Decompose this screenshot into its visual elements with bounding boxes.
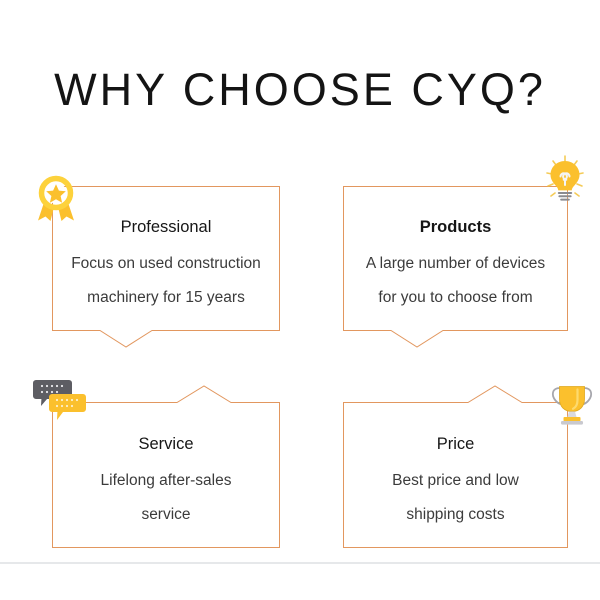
why-choose-section: WHY CHOOSE CYQ? Professional Focus on us… bbox=[0, 0, 600, 600]
card-line: Focus on used construction bbox=[71, 256, 261, 272]
card-line: machinery for 15 years bbox=[87, 290, 245, 306]
card-title: Products bbox=[420, 219, 492, 236]
award-ribbon-icon bbox=[29, 171, 83, 225]
card-price: Price Best price and low shipping costs bbox=[343, 402, 568, 548]
card-text: Service Lifelong after-sales service bbox=[52, 402, 280, 548]
card-products: Products A large number of devices for y… bbox=[343, 186, 568, 331]
card-title: Price bbox=[437, 436, 475, 453]
card-professional: Professional Focus on used construction … bbox=[52, 186, 280, 331]
card-service: Service Lifelong after-sales service bbox=[52, 402, 280, 548]
card-line: Best price and low bbox=[392, 473, 519, 489]
card-line: service bbox=[141, 507, 190, 523]
card-line: Lifelong after-sales bbox=[101, 473, 232, 489]
chat-bubbles-icon bbox=[33, 377, 91, 423]
lightbulb-icon bbox=[539, 152, 597, 210]
card-text: Price Best price and low shipping costs bbox=[343, 402, 568, 548]
card-title: Service bbox=[138, 436, 193, 453]
card-text: Products A large number of devices for y… bbox=[343, 186, 568, 331]
page-title: WHY CHOOSE CYQ? bbox=[0, 64, 600, 116]
card-line: A large number of devices bbox=[366, 256, 545, 272]
card-text: Professional Focus on used construction … bbox=[52, 186, 280, 331]
card-line: for you to choose from bbox=[378, 290, 532, 306]
card-title: Professional bbox=[121, 219, 212, 236]
trophy-icon bbox=[548, 381, 596, 429]
footer-divider bbox=[0, 562, 600, 564]
card-line: shipping costs bbox=[406, 507, 504, 523]
